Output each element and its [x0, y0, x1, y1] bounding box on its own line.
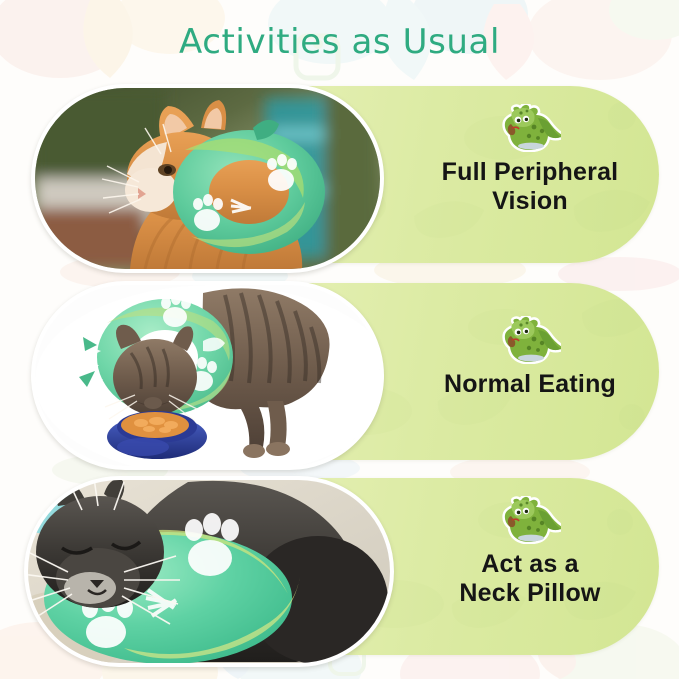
- panel-caption: Full Peripheral Vision: [442, 158, 619, 216]
- panel-content-normal-eating: Normal Eating: [400, 316, 660, 399]
- panel-content-full-peripheral-vision: Full Peripheral Vision: [400, 104, 660, 216]
- panel-content-neck-pillow: Act as a Neck Pillow: [400, 496, 660, 608]
- panel-caption: Act as a Neck Pillow: [459, 550, 600, 608]
- triceratops-dinosaur-icon: [499, 104, 561, 152]
- page-title: Activities as Usual: [0, 22, 679, 62]
- panel-caption: Normal Eating: [444, 370, 616, 399]
- triceratops-dinosaur-icon: [499, 496, 561, 544]
- photo-cat-eating-with-collar: [31, 281, 384, 470]
- photo-cat-sleeping-on-collar-pillow: [24, 476, 394, 667]
- triceratops-dinosaur-icon: [499, 316, 561, 364]
- photo-cat-wearing-collar-outdoors: [31, 84, 384, 273]
